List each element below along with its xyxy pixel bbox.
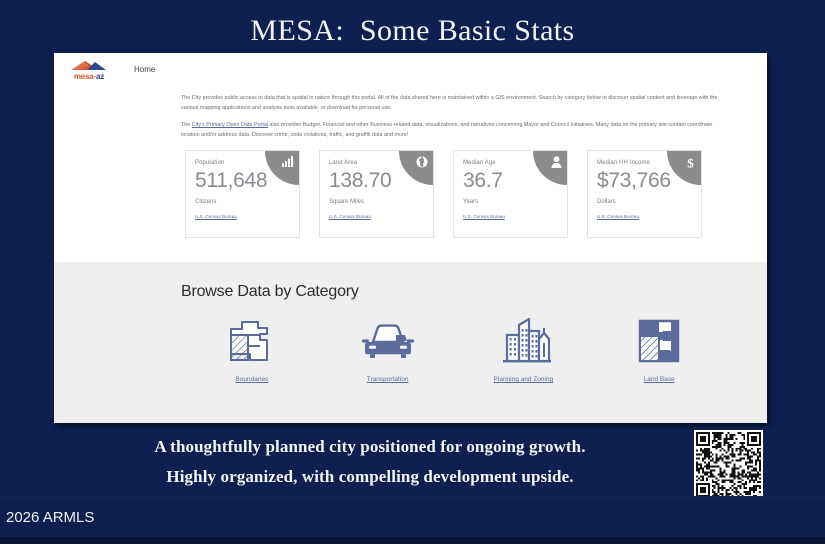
- stat-unit: Years: [463, 199, 567, 205]
- stat-label: Median Age: [463, 160, 567, 166]
- stat-value: 511,648: [195, 167, 299, 195]
- slide-title: MESA: Some Basic Stats: [0, 14, 825, 48]
- category-label: Transportation: [367, 376, 409, 383]
- category-label: Boundaries: [235, 376, 268, 383]
- tagline-line-2: Highly organized, with compelling develo…: [0, 467, 740, 487]
- stat-value: 138.70: [329, 167, 433, 195]
- parcel-outline-icon: [228, 315, 276, 367]
- buildings-icon: [495, 315, 551, 367]
- stat-card-population[interactable]: Population 511,648 Citizens U.S. Census …: [185, 150, 300, 238]
- stat-unit: Citizens: [195, 199, 299, 205]
- stat-source-link[interactable]: U.S. Census Bureau: [463, 214, 505, 219]
- category-label: Land Base: [644, 376, 675, 383]
- stat-card-row: Population 511,648 Citizens U.S. Census …: [54, 144, 767, 238]
- category-item-boundaries[interactable]: Boundaries: [184, 315, 320, 383]
- bottom-rule: [0, 537, 825, 544]
- qr-code[interactable]: [694, 430, 763, 499]
- stat-source-link[interactable]: U.S. Census Bureau: [329, 214, 371, 219]
- category-item-planning-and-zoning[interactable]: Planning and Zoning: [456, 315, 592, 383]
- intro-p2-prefix: The: [181, 122, 192, 128]
- car-icon: [360, 315, 416, 367]
- intro-paragraph-2: The City's Primary Open Data Portal also…: [181, 121, 720, 140]
- category-item-land-base[interactable]: Land Base: [591, 315, 727, 383]
- portal-intro-copy: The City provides public access to data …: [54, 86, 767, 140]
- stat-source-link[interactable]: U.S. Census Bureau: [597, 214, 639, 219]
- portal-navbar: mesa·az Home: [54, 53, 767, 86]
- category-item-row: Boundaries: [54, 301, 767, 383]
- intro-paragraph-1: The City provides public access to data …: [181, 94, 720, 113]
- logo-word-az: az: [96, 72, 104, 81]
- mesa-roof-icon: [69, 59, 109, 71]
- stat-card-median-age[interactable]: Median Age 36.7 Years U.S. Census Bureau: [453, 150, 568, 238]
- stat-source-link[interactable]: U.S. Census Bureau: [195, 214, 237, 219]
- category-item-transportation[interactable]: Transportation: [320, 315, 456, 383]
- stat-value: 36.7: [463, 167, 567, 195]
- category-heading: Browse Data by Category: [54, 262, 767, 301]
- footer-copyright: 2026 ARMLS: [6, 509, 94, 526]
- stat-label: Population: [195, 160, 299, 166]
- nav-item-home[interactable]: Home: [134, 65, 155, 74]
- logo-word-mesa: mesa: [74, 72, 94, 81]
- mesa-az-logo[interactable]: mesa·az: [66, 59, 112, 81]
- stat-unit: Dollars: [597, 199, 701, 205]
- category-label: Planning and Zoning: [494, 376, 554, 383]
- stat-value: $73,766: [597, 167, 701, 195]
- parcel-filled-icon: [635, 315, 683, 367]
- portal-screenshot-panel: mesa·az Home The City provides public ac…: [54, 53, 767, 423]
- tagline-line-1: A thoughtfully planned city positioned f…: [0, 437, 740, 457]
- logo-wordmark: mesa·az: [74, 72, 104, 81]
- slide-canvas: MESA: Some Basic Stats mesa·az Home The …: [0, 0, 825, 544]
- open-data-portal-link[interactable]: City's Primary Open Data Portal: [192, 122, 268, 128]
- stat-card-land-area[interactable]: Land Area 138.70 Square Miles U.S. Censu…: [319, 150, 434, 238]
- stat-label: Median HH Income: [597, 160, 701, 166]
- stat-label: Land Area: [329, 160, 433, 166]
- stat-unit: Square Miles: [329, 199, 433, 205]
- browse-by-category-section: Browse Data by Category: [54, 262, 767, 423]
- stat-card-median-hh-income[interactable]: $ Median HH Income $73,766 Dollars U.S. …: [587, 150, 702, 238]
